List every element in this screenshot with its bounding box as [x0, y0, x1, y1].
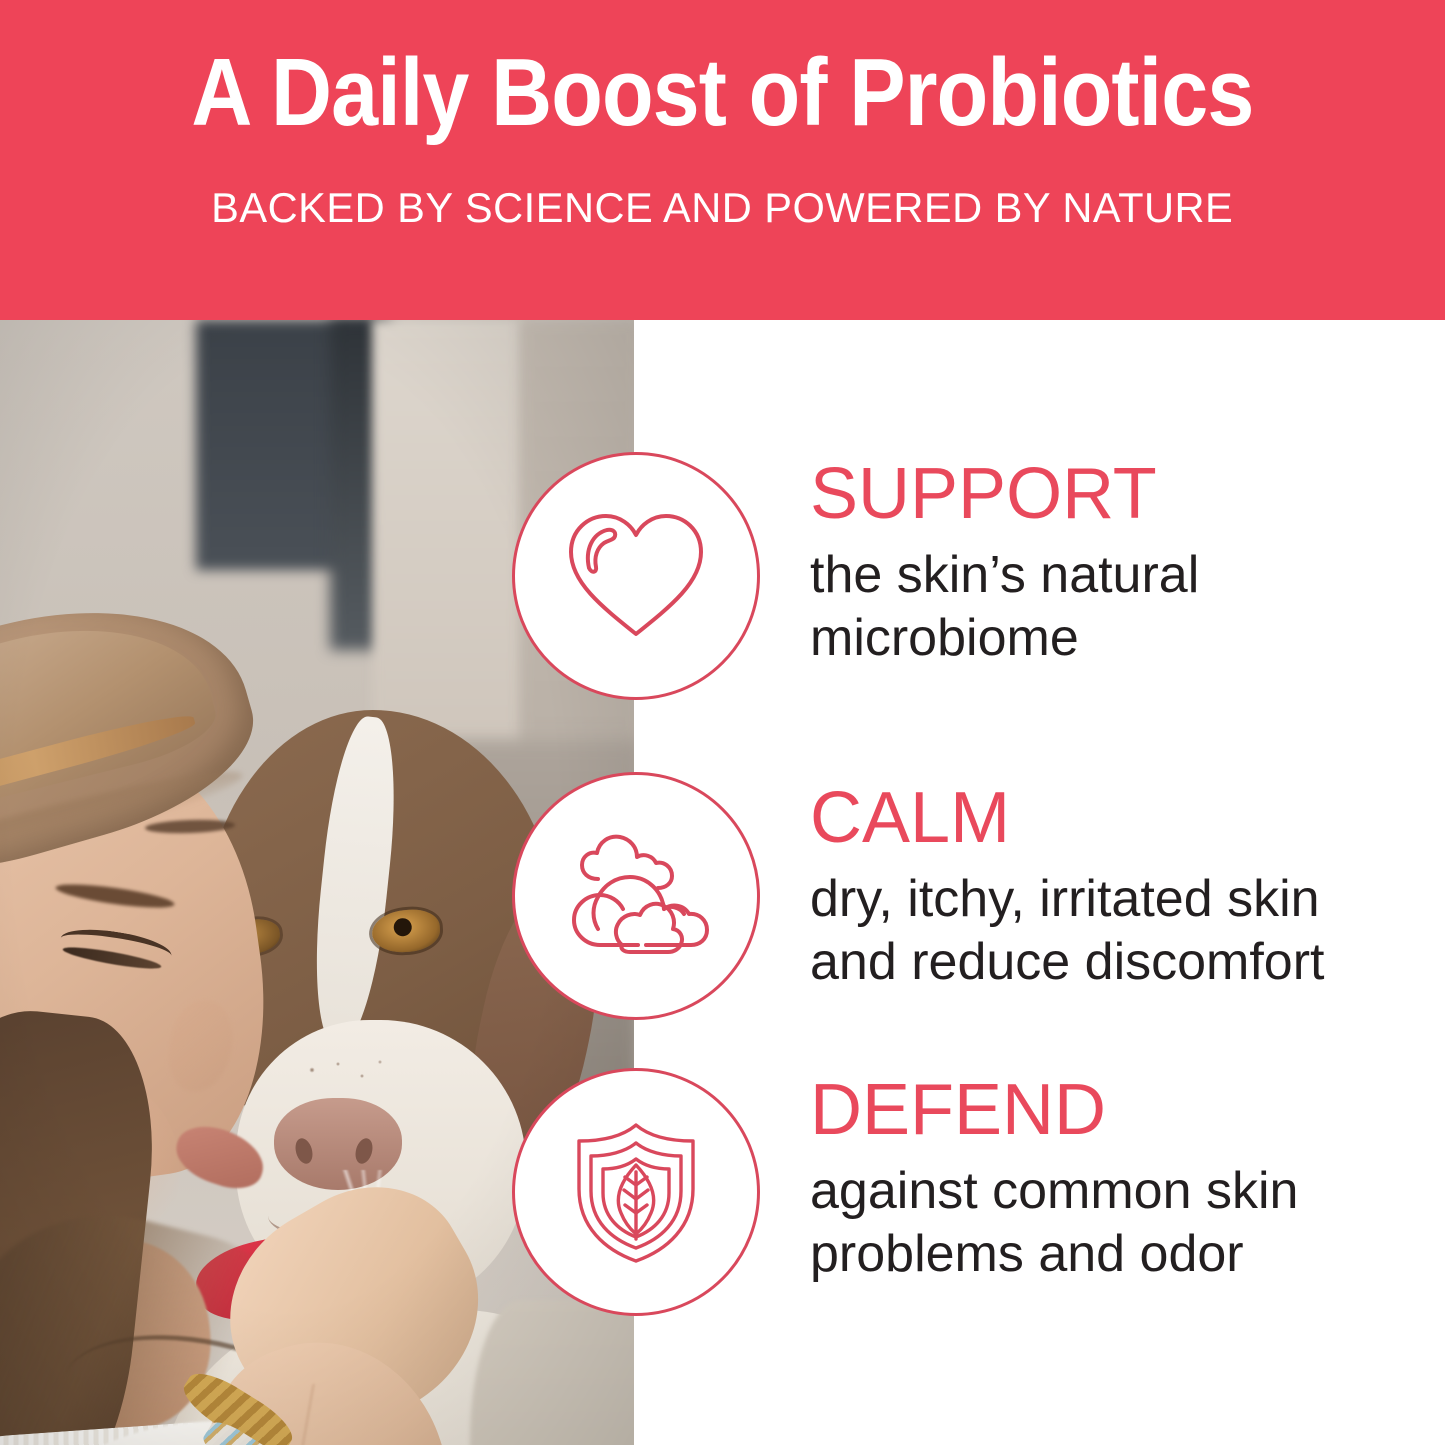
- feature-text-defend: DEFEND against common skin problems and …: [810, 1074, 1420, 1287]
- feature-body-support: the skin’s natural microbiome: [810, 544, 1420, 671]
- feature-body-line: and reduce discomfort: [810, 931, 1420, 994]
- clouds-icon-badge: [512, 772, 760, 1020]
- feature-body-calm: dry, itchy, irritated skin and reduce di…: [810, 868, 1420, 995]
- feature-body-line: problems and odor: [810, 1223, 1420, 1286]
- feature-heading-calm: CALM: [810, 782, 1420, 854]
- feature-text-calm: CALM dry, itchy, irritated skin and redu…: [810, 782, 1420, 995]
- feature-text-support: SUPPORT the skin’s natural microbiome: [810, 458, 1420, 671]
- heart-icon: [561, 506, 711, 646]
- infographic-page: A Daily Boost of Probiotics BACKED BY SC…: [0, 0, 1445, 1445]
- shield-leaf-icon: [563, 1117, 709, 1267]
- heart-icon-badge: [512, 452, 760, 700]
- shield-leaf-icon-badge: [512, 1068, 760, 1316]
- feature-heading-support: SUPPORT: [810, 458, 1420, 530]
- header-banner: A Daily Boost of Probiotics BACKED BY SC…: [0, 0, 1445, 320]
- feature-body-line: the skin’s natural: [810, 544, 1420, 607]
- clouds-icon: [560, 831, 712, 961]
- feature-heading-defend: DEFEND: [810, 1074, 1420, 1146]
- page-subtitle: BACKED BY SCIENCE AND POWERED BY NATURE: [211, 184, 1233, 232]
- page-title: A Daily Boost of Probiotics: [191, 44, 1253, 142]
- feature-body-line: microbiome: [810, 607, 1420, 670]
- feature-body-line: against common skin: [810, 1160, 1420, 1223]
- feature-body-line: dry, itchy, irritated skin: [810, 868, 1420, 931]
- feature-body-defend: against common skin problems and odor: [810, 1160, 1420, 1287]
- feature-list: SUPPORT the skin’s natural microbiome: [0, 320, 1445, 1445]
